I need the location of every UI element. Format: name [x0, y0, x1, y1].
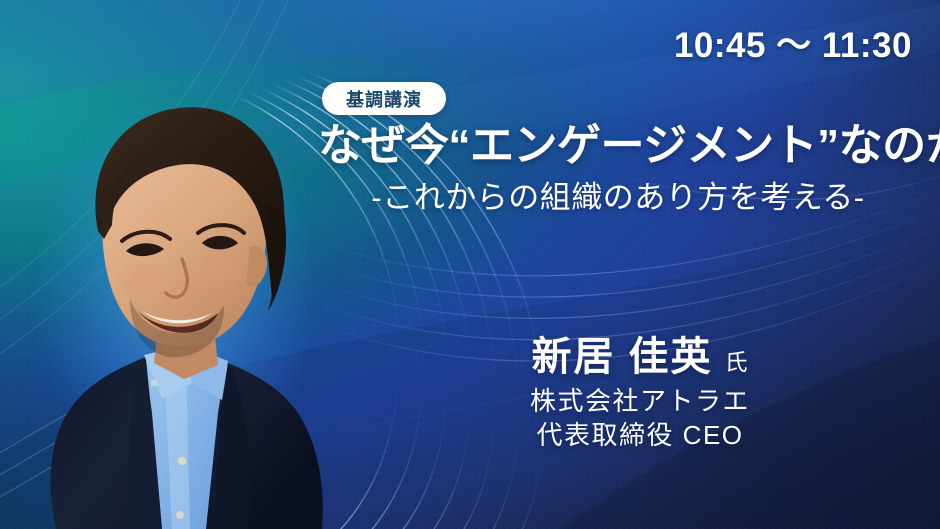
speaker-company: 株式会社アトラエ: [400, 385, 880, 419]
session-title: なぜ今“エンゲージメント”なのか: [318, 123, 918, 169]
speaker-honorific: 氏: [725, 350, 749, 375]
session-time: 10:45 ～ 11:30: [674, 17, 912, 68]
speaker-affiliation: 株式会社アトラエ 代表取締役 CEO: [400, 385, 880, 453]
speaker-position: 代表取締役 CEO: [400, 419, 880, 453]
session-type-badge: 基調講演: [322, 82, 446, 115]
speaker-name: 新居 佳英: [531, 336, 712, 379]
session-subtitle: -これからの組織のあり方を考える-: [318, 172, 918, 217]
session-slide: 10:45 ～ 11:30 基調講演 なぜ今“エンゲージメント”なのか -これか…: [0, 0, 940, 529]
speaker-info: 新居 佳英 氏 株式会社アトラエ 代表取締役 CEO: [400, 336, 880, 453]
speaker-name-row: 新居 佳英 氏: [400, 336, 880, 379]
